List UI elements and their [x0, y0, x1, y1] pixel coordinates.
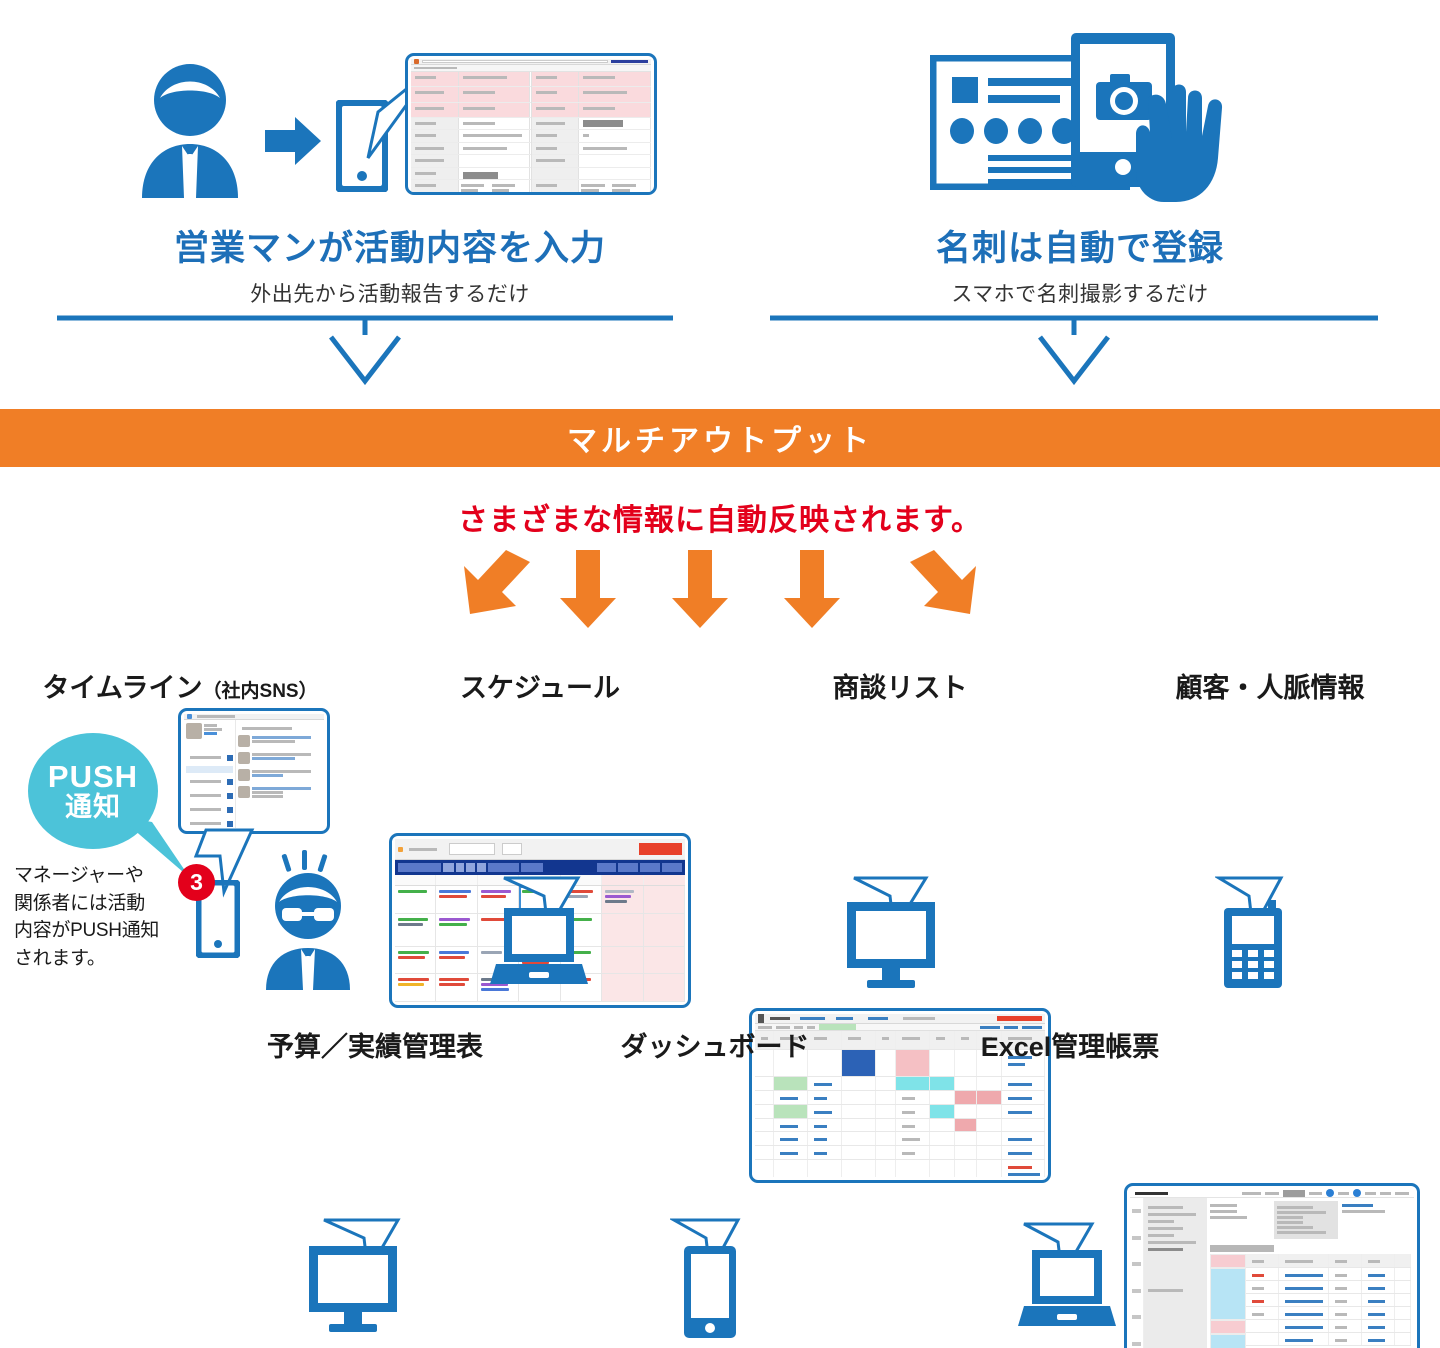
- smartphone-icon: [336, 100, 388, 192]
- manager-person-icon: [246, 850, 372, 990]
- input-subtitle-business-card: スマホで名刺撮影するだけ: [770, 278, 1390, 308]
- desktop-monitor-icon: [845, 900, 937, 988]
- input-block-sales-entry: 営業マンが活動内容を入力 外出先から活動報告するだけ: [60, 20, 720, 320]
- salesperson-icon: [120, 58, 260, 198]
- browser-form-screenshot: [405, 53, 657, 195]
- subheading-text: さまざまな情報に自動反映されます。: [0, 495, 1440, 539]
- multi-output-banner: マルチアウトプット: [0, 409, 1440, 467]
- push-bubble-line1: PUSH: [48, 761, 138, 794]
- orange-arrows-group: [460, 548, 980, 630]
- push-caption-line-1: マネージャーや: [14, 862, 194, 890]
- smartphone-icon: [682, 1244, 738, 1340]
- push-caption-line-2: 関係者には活動: [14, 890, 194, 918]
- push-bubble-line2: 通知: [65, 793, 121, 821]
- input-title-business-card: 名刺は自動で登録: [770, 220, 1390, 271]
- arrow-down-icon-2: [672, 550, 728, 628]
- customer-detail-screenshot: [1124, 1183, 1420, 1348]
- input-subtitle-sales-entry: 外出先から活動報告するだけ: [60, 278, 720, 308]
- push-caption-line-3: 内容がPUSH通知: [14, 917, 194, 945]
- arrow-right-icon: [265, 115, 321, 167]
- laptop-icon: [1018, 1248, 1116, 1330]
- connector-bracket-right: [768, 315, 1380, 387]
- desktop-monitor-icon: [307, 1244, 399, 1332]
- arrow-down-left-icon: [464, 550, 530, 614]
- input-block-business-card: 名刺は自動で登録 スマホで名刺撮影するだけ: [770, 20, 1390, 320]
- push-caption: マネージャーや 関係者には活動 内容がPUSH通知 されます。: [14, 862, 194, 972]
- output-label-customer-network: 顧客・人脈情報: [1120, 666, 1420, 705]
- laptop-icon: [490, 906, 588, 988]
- infographic-root: 営業マンが活動内容を入力 外出先から活動報告するだけ: [0, 0, 1440, 1348]
- multi-output-banner-label: マルチアウトプット: [567, 416, 873, 460]
- arrow-down-right-icon: [910, 550, 976, 614]
- push-caption-line-4: されます。: [14, 945, 194, 973]
- hand-tap-icon: [1120, 72, 1250, 207]
- output-label-deal-list: 商談リスト: [750, 666, 1050, 705]
- output-label-timeline-sub: （社内SNS）: [203, 681, 318, 702]
- arrow-down-icon-1: [560, 550, 616, 628]
- output-label-dashboard: ダッシュボード: [565, 1025, 865, 1064]
- input-title-sales-entry: 営業マンが活動内容を入力: [60, 220, 720, 271]
- output-label-schedule: スケジュール: [390, 666, 690, 705]
- output-label-timeline: タイムライン（社内SNS）: [20, 666, 340, 705]
- push-badge-count: 3: [178, 864, 215, 901]
- output-label-excel-report: Excel管理帳票: [920, 1025, 1220, 1064]
- feature-phone-icon: [1222, 900, 1284, 990]
- output-label-budget-actual: 予算／実績管理表: [225, 1025, 525, 1064]
- arrow-down-icon-3: [784, 550, 840, 628]
- connector-bracket-left: [55, 315, 675, 387]
- output-label-timeline-main: タイムライン: [42, 673, 202, 703]
